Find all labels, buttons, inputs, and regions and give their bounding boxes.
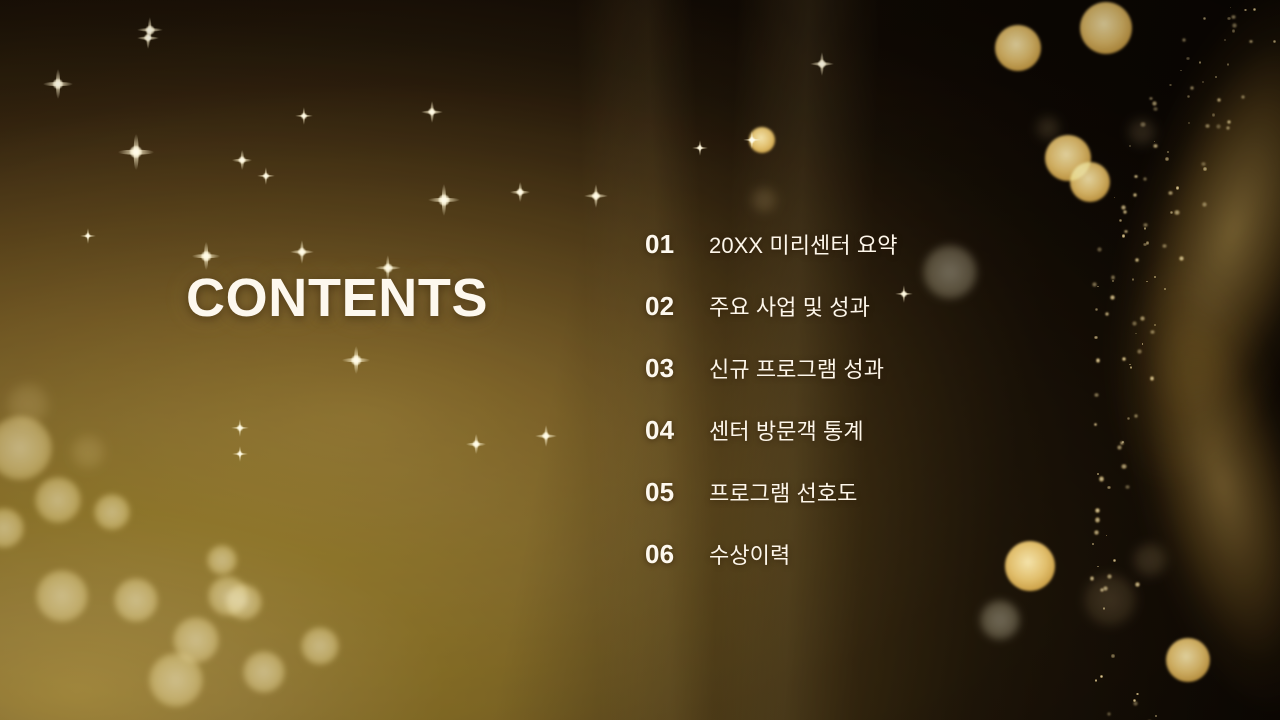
toc-item-label: 신규 프로그램 성과 bbox=[709, 352, 884, 384]
table-of-contents-list: 0120XX 미리센터 요약02주요 사업 및 성과03신규 프로그램 성과04… bbox=[645, 228, 1205, 600]
presentation-slide: CONTENTS 0120XX 미리센터 요약02주요 사업 및 성과03신규 … bbox=[0, 0, 1280, 720]
toc-item-number: 06 bbox=[645, 539, 709, 570]
toc-item-label: 수상이력 bbox=[709, 538, 790, 570]
toc-item-label: 주요 사업 및 성과 bbox=[709, 290, 870, 322]
toc-item-number: 04 bbox=[645, 415, 709, 446]
toc-item-04[interactable]: 04센터 방문객 통계 bbox=[645, 414, 1205, 476]
toc-item-number: 03 bbox=[645, 353, 709, 384]
toc-item-label: 20XX 미리센터 요약 bbox=[709, 228, 898, 260]
toc-item-01[interactable]: 0120XX 미리센터 요약 bbox=[645, 228, 1205, 290]
toc-item-number: 01 bbox=[645, 229, 709, 260]
toc-item-03[interactable]: 03신규 프로그램 성과 bbox=[645, 352, 1205, 414]
toc-item-02[interactable]: 02주요 사업 및 성과 bbox=[645, 290, 1205, 352]
toc-item-number: 02 bbox=[645, 291, 709, 322]
toc-item-06[interactable]: 06수상이력 bbox=[645, 538, 1205, 600]
toc-item-label: 프로그램 선호도 bbox=[709, 476, 858, 508]
toc-item-label: 센터 방문객 통계 bbox=[709, 414, 864, 446]
slide-content: CONTENTS 0120XX 미리센터 요약02주요 사업 및 성과03신규 … bbox=[0, 0, 1280, 720]
page-title: CONTENTS bbox=[186, 267, 488, 329]
toc-item-number: 05 bbox=[645, 477, 709, 508]
toc-item-05[interactable]: 05프로그램 선호도 bbox=[645, 476, 1205, 538]
